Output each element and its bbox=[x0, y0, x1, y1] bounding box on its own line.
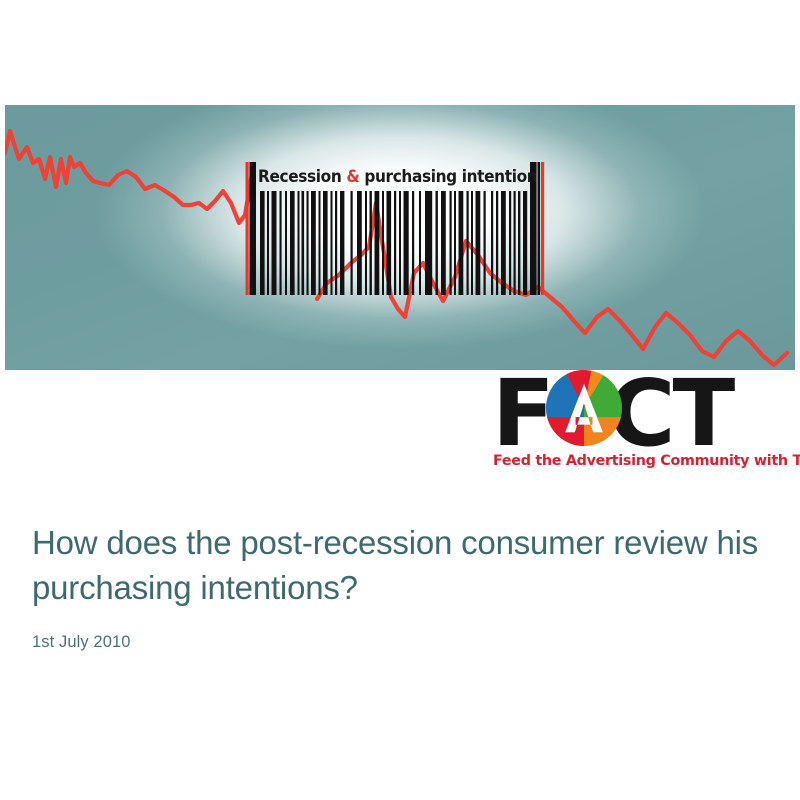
title-block: How does the post-recession consumer rev… bbox=[32, 520, 762, 652]
logo-letters-ct: CT bbox=[608, 368, 732, 460]
logo-wedge-bottom-red bbox=[546, 417, 584, 446]
logo-wedge-bottom-orange bbox=[584, 417, 622, 446]
barcode-guard-left bbox=[246, 162, 249, 295]
logo-tagline: Feed the Advertising Community with Tren… bbox=[493, 452, 800, 469]
page-date: 1st July 2010 bbox=[32, 632, 762, 652]
barcode-headline-part2: purchasing intention bbox=[359, 167, 537, 186]
logo-monogram-a-icon bbox=[546, 370, 622, 446]
page-title: How does the post-recession consumer rev… bbox=[32, 520, 762, 610]
barcode-headline: Recession & purchasing intention bbox=[258, 164, 526, 189]
barcode-headline-ampersand: & bbox=[346, 167, 359, 186]
trend-line-left bbox=[5, 131, 253, 223]
fact-logo-wordmark: F CT bbox=[490, 368, 790, 450]
barcode-guard-right bbox=[541, 162, 544, 295]
barcode-headline-part1: Recession bbox=[258, 167, 346, 186]
fact-logo: F CT bbox=[490, 368, 790, 478]
barcode-graphic: Recession & purchasing intention bbox=[240, 160, 552, 297]
logo-letter-f: F bbox=[492, 368, 553, 460]
